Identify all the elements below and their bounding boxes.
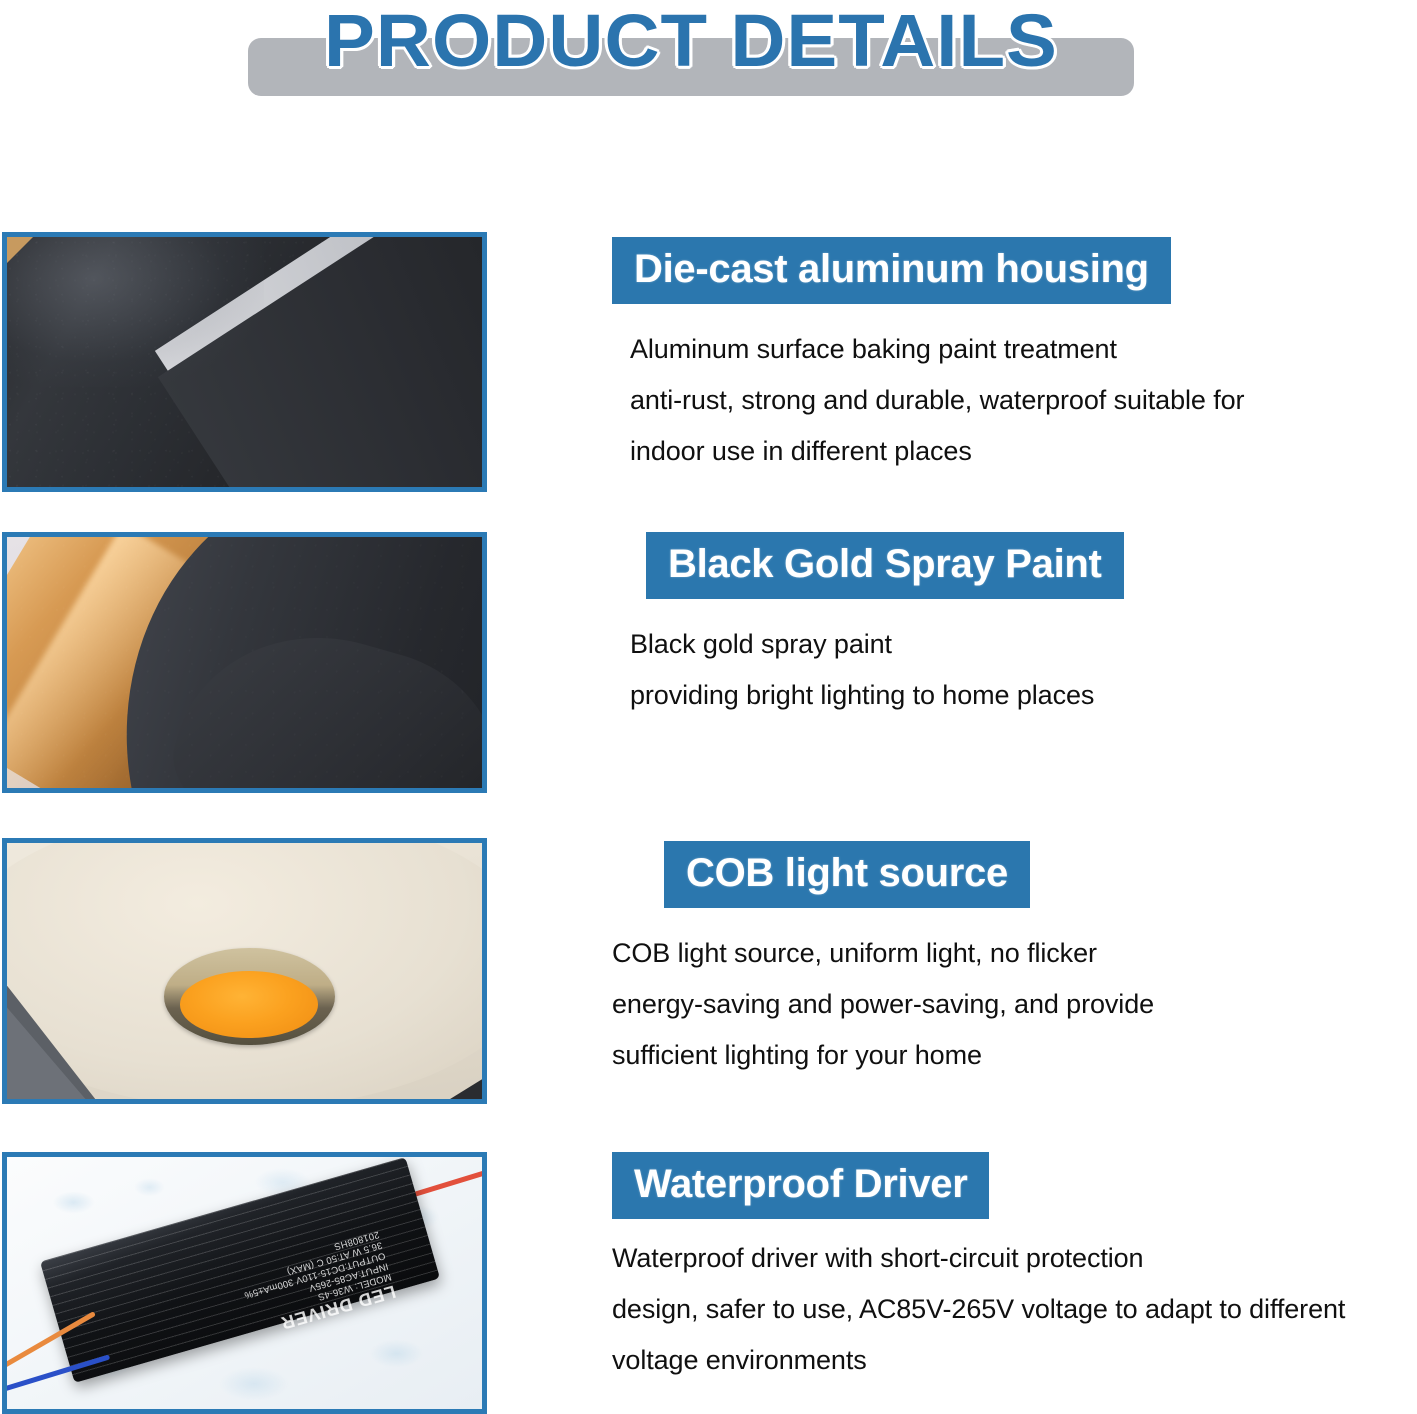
feature-text-2: Black Gold Spray Paint Black gold spray … [612,532,1124,721]
feature-body-1-line-1: Aluminum surface baking paint treatment [630,324,1244,375]
feature-row-2: Black Gold Spray Paint Black gold spray … [0,532,1417,794]
feature-body-1: Aluminum surface baking paint treatment … [612,324,1244,477]
feature-body-4-line-2: design, safer to use, AC85V-265V voltage… [612,1284,1345,1335]
feature-body-1-line-2: anti-rust, strong and durable, waterproo… [630,375,1244,426]
feature-body-1-line-3: indoor use in different places [630,426,1244,477]
feature-body-3: COB light source, uniform light, no flic… [612,928,1154,1081]
feature-body-3-line-2: energy-saving and power-saving, and prov… [612,979,1154,1030]
feature-text-1: Die-cast aluminum housing Aluminum surfa… [612,237,1244,477]
photo-2-canvas [7,537,482,788]
feature-body-2-line-2: providing bright lighting to home places [630,670,1124,721]
cob-led-chip [180,971,318,1038]
page-header: PRODUCT DETAILS [0,0,1417,180]
feature-body-4-line-1: Waterproof driver with short-circuit pro… [612,1233,1345,1284]
feature-heading-4: Waterproof Driver [612,1152,989,1219]
feature-body-4-line-3: voltage environments [612,1335,1345,1386]
feature-row-1: Die-cast aluminum housing Aluminum surfa… [0,232,1417,494]
housing-highlight [7,237,264,387]
feature-text-4: Waterproof Driver Waterproof driver with… [612,1152,1345,1386]
cob-corner-shadow [434,1073,483,1099]
feature-body-4: Waterproof driver with short-circuit pro… [612,1233,1345,1386]
feature-body-2: Black gold spray paint providing bright … [612,619,1124,721]
cob-wedge-highlight [7,997,94,1099]
feature-row-4: LED DRIVER MODEL: W36-4S INPUT:AC85-265V… [0,1152,1417,1414]
feature-row-3: COB light source COB light source, unifo… [0,838,1417,1104]
photo-4-canvas: LED DRIVER MODEL: W36-4S INPUT:AC85-265V… [7,1157,482,1409]
feature-photo-2 [2,532,487,793]
feature-text-3: COB light source COB light source, unifo… [612,841,1154,1081]
spray-texture [7,537,482,788]
housing-corner-accent [7,237,33,263]
photo-1-canvas [7,237,482,487]
feature-photo-1 [2,232,487,492]
feature-photo-3 [2,838,487,1104]
feature-body-3-line-3: sufficient lighting for your home [612,1030,1154,1081]
feature-heading-3: COB light source [664,841,1030,908]
feature-body-3-line-1: COB light source, uniform light, no flic… [612,928,1154,979]
feature-heading-1: Die-cast aluminum housing [612,237,1171,304]
feature-photo-4: LED DRIVER MODEL: W36-4S INPUT:AC85-265V… [2,1152,487,1414]
feature-heading-2: Black Gold Spray Paint [646,532,1124,599]
feature-body-2-line-1: Black gold spray paint [630,619,1124,670]
page-title: PRODUCT DETAILS [235,0,1148,83]
photo-3-canvas [7,843,482,1099]
